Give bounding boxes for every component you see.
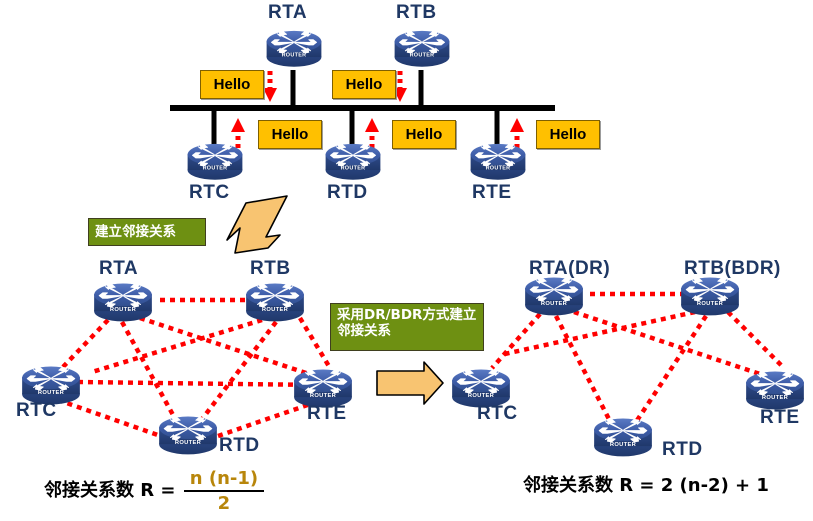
hello-packet-label: Hello <box>392 120 456 149</box>
annotation-dr-bdr-method: 采用DR/BDR方式建立邻接关系 <box>330 303 484 351</box>
formula-full-mesh: 邻接关系数 R = n (n-1) 2 <box>44 468 266 514</box>
router-icon-rtd-dr <box>594 419 652 457</box>
hello-packet-label: Hello <box>332 70 396 99</box>
router-icon-rtc-top <box>188 144 243 180</box>
router-icon-rtc-dr <box>452 370 510 408</box>
router-icon-rtb-mesh <box>246 284 304 322</box>
hello-packet-label: Hello <box>536 120 600 149</box>
router-icon-rtd-mesh <box>159 417 217 455</box>
annotation-establish-adjacency: 建立邻接关系 <box>88 218 206 246</box>
router-icon-rta-top <box>267 31 322 67</box>
router-label-rta-dr: RTA(DR) <box>529 259 610 278</box>
router-label-rta-mesh: RTA <box>99 259 138 278</box>
router-icon-rte-dr <box>746 372 804 410</box>
right-block-arrow <box>377 362 443 404</box>
formula-lead-left: 邻接关系数 R = <box>44 480 175 501</box>
router-label-rtb-mesh: RTB <box>250 259 291 278</box>
router-label-rtd-mesh: RTD <box>219 436 260 455</box>
router-label-rtc-mesh: RTC <box>16 401 57 420</box>
formula-numerator: n (n-1) <box>184 468 264 492</box>
router-icon-rta-mesh <box>94 284 152 322</box>
formula-dr-bdr: 邻接关系数 R = 2 (n-2) + 1 <box>523 471 769 497</box>
router-icon-rte-mesh <box>294 370 352 408</box>
router-label-rtd-top: RTD <box>327 183 368 202</box>
router-label-rte-mesh: RTE <box>307 404 347 423</box>
hello-packet-label: Hello <box>200 70 264 99</box>
router-icon-rtb-dr <box>681 278 739 316</box>
router-icon-rtc-mesh <box>22 367 80 405</box>
router-label-rtc-dr: RTC <box>477 404 518 423</box>
diagram-canvas: ROUTER <box>0 0 813 521</box>
router-icon-rte-top <box>471 144 526 180</box>
router-icon-rtd-top <box>326 144 381 180</box>
router-label-rtb-dr: RTB(BDR) <box>684 259 781 278</box>
router-label-rte-dr: RTE <box>760 408 800 427</box>
router-label-rtd-dr: RTD <box>662 440 703 459</box>
router-label-rta-top: RTA <box>268 3 307 22</box>
formula-fraction: n (n-1) 2 <box>184 468 264 514</box>
router-label-rte-top: RTE <box>472 183 512 202</box>
router-icon-rta-dr <box>525 278 583 316</box>
router-label-rtc-top: RTC <box>189 183 230 202</box>
hello-packet-label: Hello <box>258 120 322 149</box>
dr-bdr-links <box>492 294 782 425</box>
down-left-block-arrow <box>227 196 287 253</box>
router-icon-rtb-top <box>395 31 450 67</box>
router-label-rtb-top: RTB <box>396 3 437 22</box>
formula-denominator: 2 <box>184 492 264 514</box>
